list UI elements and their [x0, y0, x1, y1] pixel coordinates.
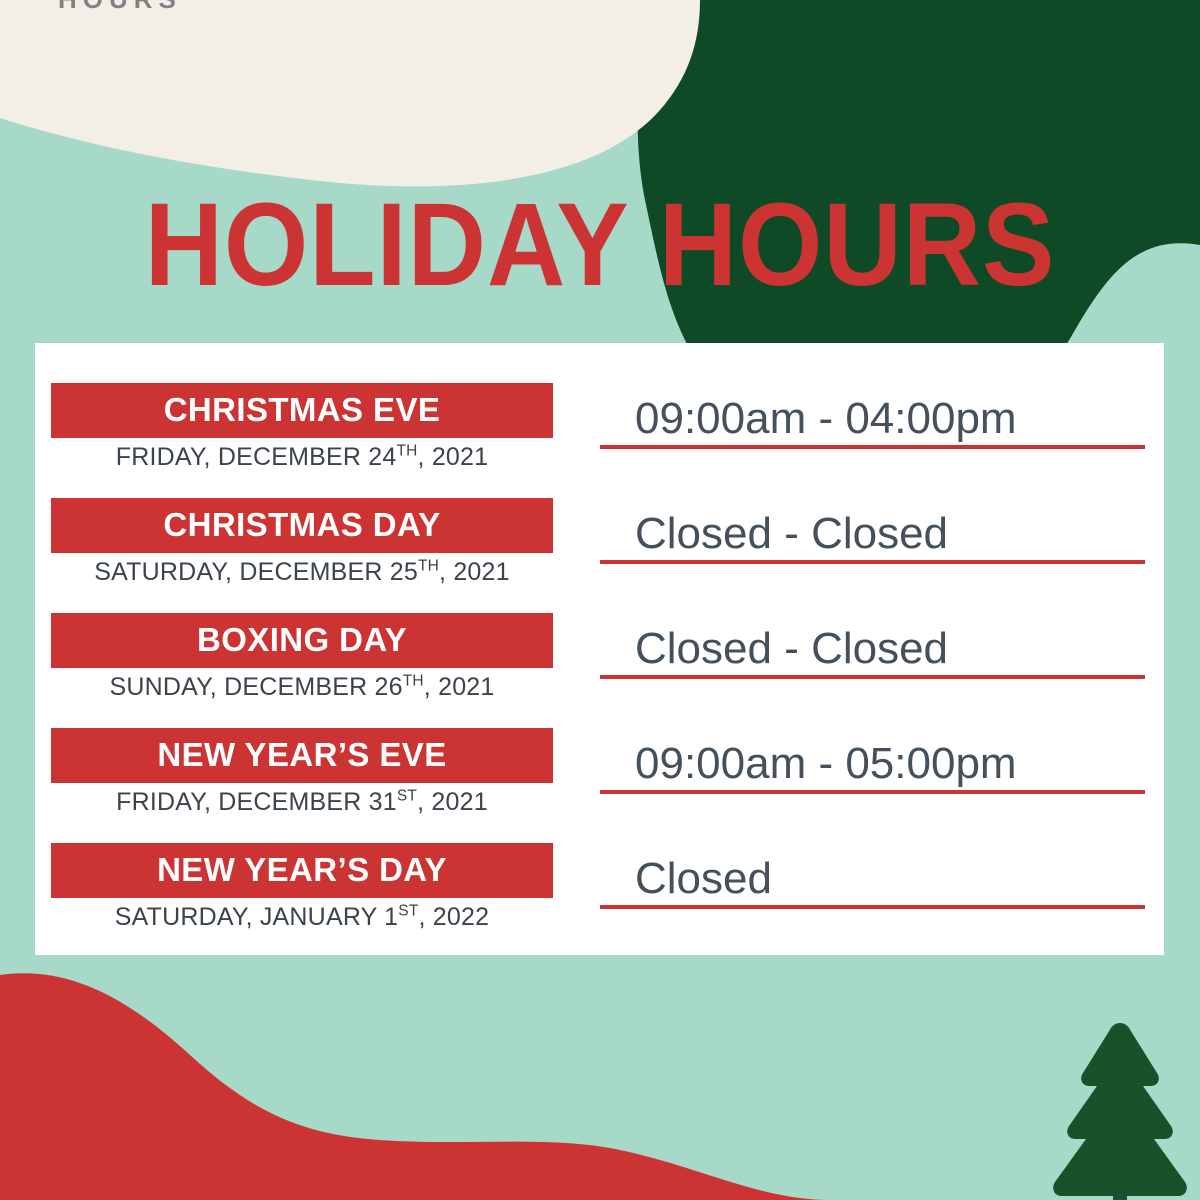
holiday-date-label: SUNDAY, DECEMBER 26TH, 2021 [51, 673, 553, 702]
date-ordinal: TH [403, 673, 424, 690]
holiday-name-label: NEW YEAR’S EVE [157, 738, 446, 771]
holiday-date-label: SATURDAY, JANUARY 1ST, 2022 [51, 903, 553, 932]
schedule-card: CHRISTMAS EVE FRIDAY, DECEMBER 24TH, 202… [35, 343, 1164, 955]
date-prefix: SUNDAY, DECEMBER 26 [109, 673, 402, 701]
holiday-date-label: SATURDAY, DECEMBER 25TH, 2021 [51, 558, 553, 587]
table-row: NEW YEAR’S EVE FRIDAY, DECEMBER 31ST, 20… [35, 718, 1164, 833]
holiday-name-band: CHRISTMAS EVE [51, 383, 553, 438]
holiday-name-label: CHRISTMAS DAY [163, 508, 440, 541]
holiday-hours-label: 09:00am - 05:00pm [635, 742, 1017, 786]
date-ordinal: TH [396, 443, 417, 460]
hours-underline-rule [600, 445, 1145, 449]
holiday-hours-cell: Closed - Closed [600, 607, 1145, 679]
date-prefix: SATURDAY, JANUARY 1 [115, 903, 399, 931]
holiday-name-band: BOXING DAY [51, 613, 553, 668]
date-suffix: , 2021 [424, 673, 495, 701]
holiday-hours-cell: 09:00am - 04:00pm [600, 377, 1145, 449]
holiday-name-label: BOXING DAY [197, 623, 407, 656]
holiday-date-label: FRIDAY, DECEMBER 31ST, 2021 [51, 788, 553, 817]
date-suffix: , 2021 [439, 558, 510, 586]
table-row: NEW YEAR’S DAY SATURDAY, JANUARY 1ST, 20… [35, 833, 1164, 948]
top-clipped-text: HOURS [58, 0, 182, 15]
date-ordinal: TH [418, 558, 439, 575]
table-row: CHRISTMAS EVE FRIDAY, DECEMBER 24TH, 202… [35, 373, 1164, 488]
holiday-name-band: CHRISTMAS DAY [51, 498, 553, 553]
schedule-rows: CHRISTMAS EVE FRIDAY, DECEMBER 24TH, 202… [35, 343, 1164, 955]
hours-underline-rule [600, 790, 1145, 794]
holiday-hours-label: 09:00am - 04:00pm [635, 397, 1017, 441]
hours-underline-rule [600, 560, 1145, 564]
table-row: BOXING DAY SUNDAY, DECEMBER 26TH, 2021 C… [35, 603, 1164, 718]
date-prefix: SATURDAY, DECEMBER 25 [94, 558, 418, 586]
hours-underline-rule [600, 675, 1145, 679]
date-suffix: , 2022 [419, 903, 490, 931]
holiday-hours-label: Closed [635, 857, 772, 901]
date-ordinal: ST [398, 903, 418, 920]
table-row: CHRISTMAS DAY SATURDAY, DECEMBER 25TH, 2… [35, 488, 1164, 603]
date-ordinal: ST [397, 788, 417, 805]
holiday-date-label: FRIDAY, DECEMBER 24TH, 2021 [51, 443, 553, 472]
holiday-hours-cell: Closed [600, 837, 1145, 909]
holiday-hours-cell: 09:00am - 05:00pm [600, 722, 1145, 794]
holiday-hours-label: Closed - Closed [635, 627, 948, 671]
holiday-hours-poster: HOURS HOLIDAY HOURS CHRISTMAS EVE FRIDAY… [0, 0, 1200, 1200]
holiday-name-band: NEW YEAR’S DAY [51, 843, 553, 898]
holiday-name-label: NEW YEAR’S DAY [157, 853, 447, 886]
holiday-name-band: NEW YEAR’S EVE [51, 728, 553, 783]
holiday-name-label: CHRISTMAS EVE [164, 393, 441, 426]
holiday-hours-cell: Closed - Closed [600, 492, 1145, 564]
date-suffix: , 2021 [418, 443, 489, 471]
hours-underline-rule [600, 905, 1145, 909]
holiday-hours-label: Closed - Closed [635, 512, 948, 556]
date-prefix: FRIDAY, DECEMBER 31 [116, 788, 397, 816]
date-suffix: , 2021 [417, 788, 488, 816]
page-title: HOLIDAY HOURS [48, 186, 1152, 304]
date-prefix: FRIDAY, DECEMBER 24 [116, 443, 397, 471]
